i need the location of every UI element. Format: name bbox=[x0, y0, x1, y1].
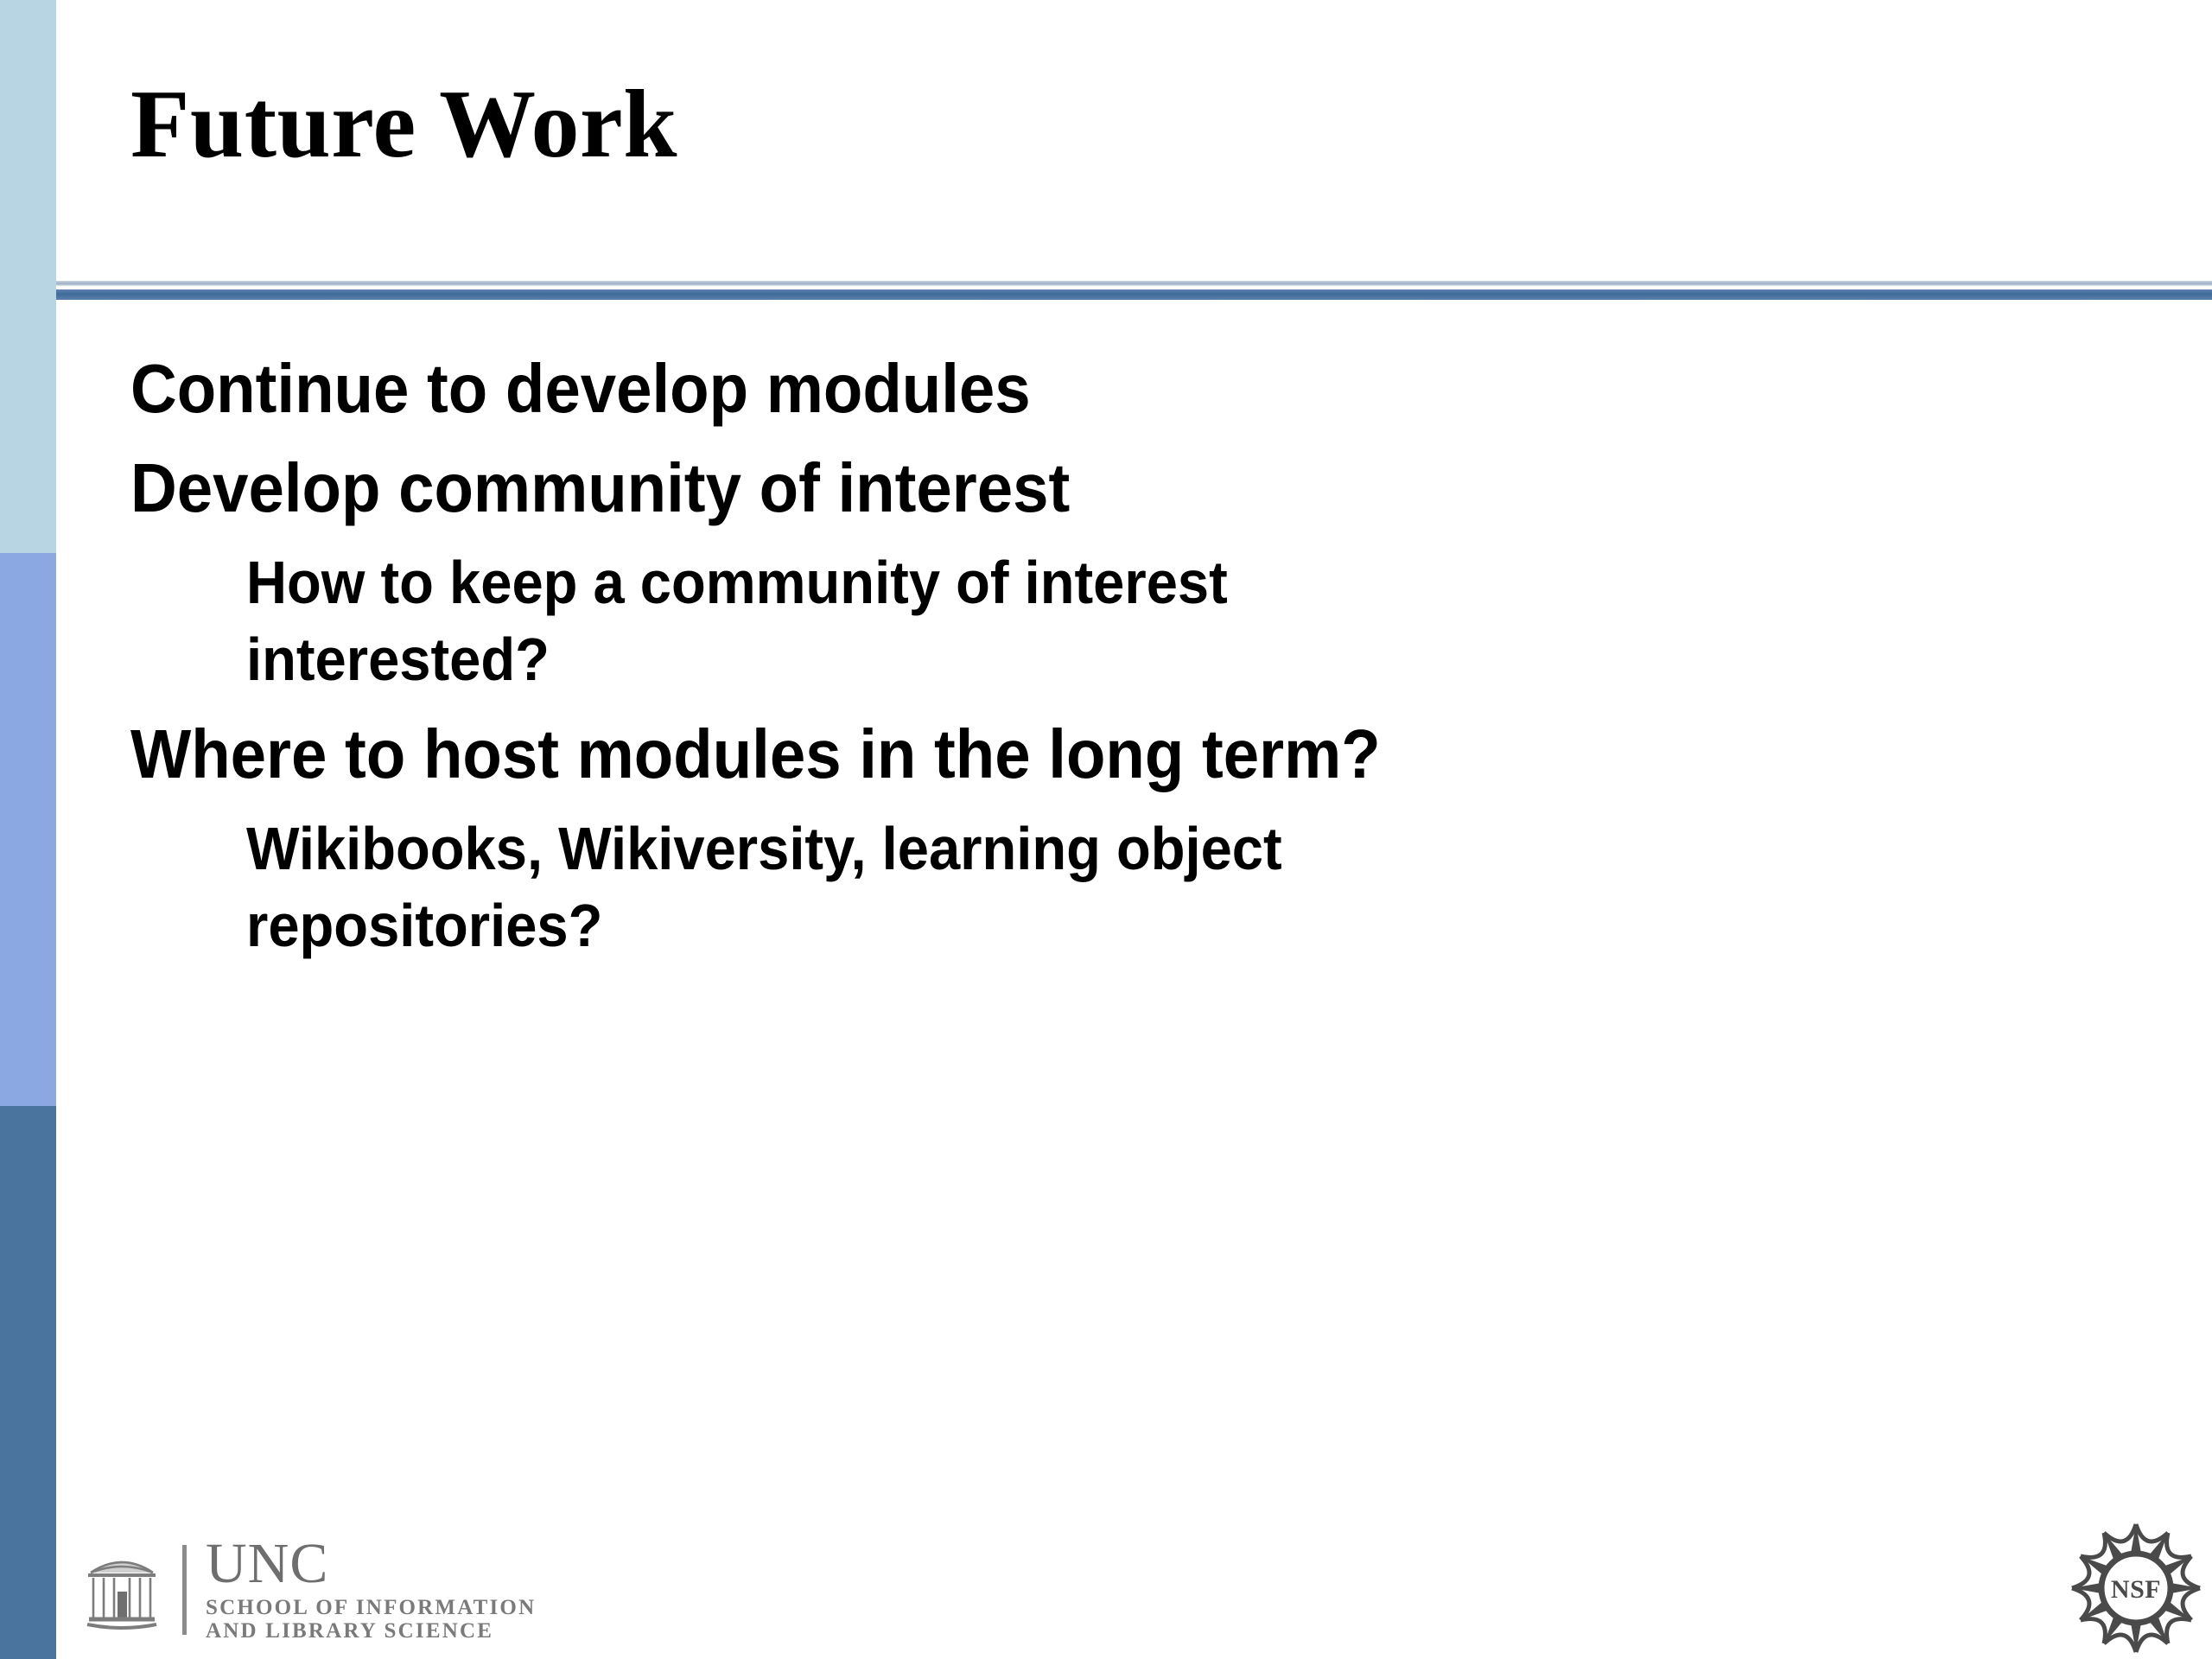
unc-subtitle-line1: SCHOOL OF INFORMATION bbox=[206, 1596, 536, 1619]
bullet-level1: Where to host modules in the long term? bbox=[130, 711, 2012, 798]
bullet-level2: Wikibooks, Wikiversity, learning object … bbox=[246, 810, 1459, 965]
bullet-level1: Develop community of interest bbox=[130, 445, 2012, 532]
side-band-light bbox=[0, 0, 56, 553]
nsf-starburst-icon: NSF bbox=[2067, 1519, 2205, 1657]
unc-subtitle-line2: AND LIBRARY SCIENCE bbox=[206, 1619, 493, 1643]
unc-subtitle: SCHOOL OF INFORMATION AND LIBRARY SCIENC… bbox=[206, 1596, 536, 1643]
unc-logo-divider bbox=[182, 1545, 187, 1635]
old-well-rotunda-icon bbox=[82, 1547, 162, 1633]
unc-sils-logo: UNC SCHOOL OF INFORMATION AND LIBRARY SC… bbox=[82, 1538, 536, 1642]
bullet-level2: How to keep a community of interest inte… bbox=[246, 544, 1459, 699]
title-area: Future Work bbox=[63, 0, 2212, 285]
side-color-bands bbox=[0, 0, 56, 1659]
page-title: Future Work bbox=[130, 76, 677, 173]
nsf-logo: NSF bbox=[2067, 1519, 2205, 1657]
slide-body: Continue to develop modules Develop comm… bbox=[63, 346, 2154, 977]
title-divider bbox=[56, 281, 2212, 300]
side-band-medium bbox=[0, 553, 56, 1106]
side-gutter bbox=[56, 0, 63, 1659]
nsf-label: NSF bbox=[2111, 1575, 2161, 1604]
side-band-dark bbox=[0, 1106, 56, 1659]
unc-name: UNC bbox=[206, 1537, 536, 1591]
bullet-level1: Continue to develop modules bbox=[130, 346, 2012, 433]
presentation-slide: Future Work Continue to develop modules … bbox=[0, 0, 2212, 1659]
divider-line-thick bbox=[56, 289, 2212, 300]
unc-wordmark: UNC SCHOOL OF INFORMATION AND LIBRARY SC… bbox=[206, 1537, 536, 1642]
